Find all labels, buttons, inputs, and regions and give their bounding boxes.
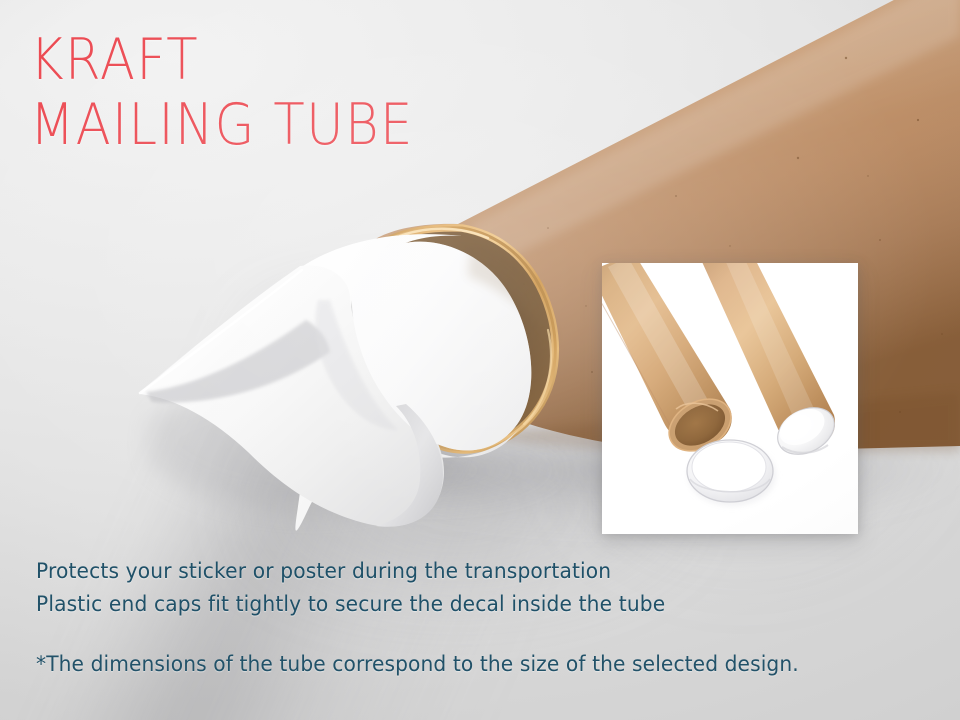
feature-line-1: Protects your sticker or poster during t…: [36, 556, 665, 589]
tube-mouth: [358, 228, 555, 450]
footnote-text: *The dimensions of the tube correspond t…: [36, 652, 799, 677]
inset-photo-two-kraft-tubes: [602, 263, 858, 534]
page-title: KRAFT MAILING TUBE: [30, 28, 414, 158]
poster-sheet: [140, 234, 531, 531]
feature-description: Protects your sticker or poster during t…: [36, 556, 665, 621]
feature-line-2: Plastic end caps fit tightly to secure t…: [36, 589, 665, 622]
poster-canvas: KRAFT MAILING TUBE: [0, 0, 960, 720]
